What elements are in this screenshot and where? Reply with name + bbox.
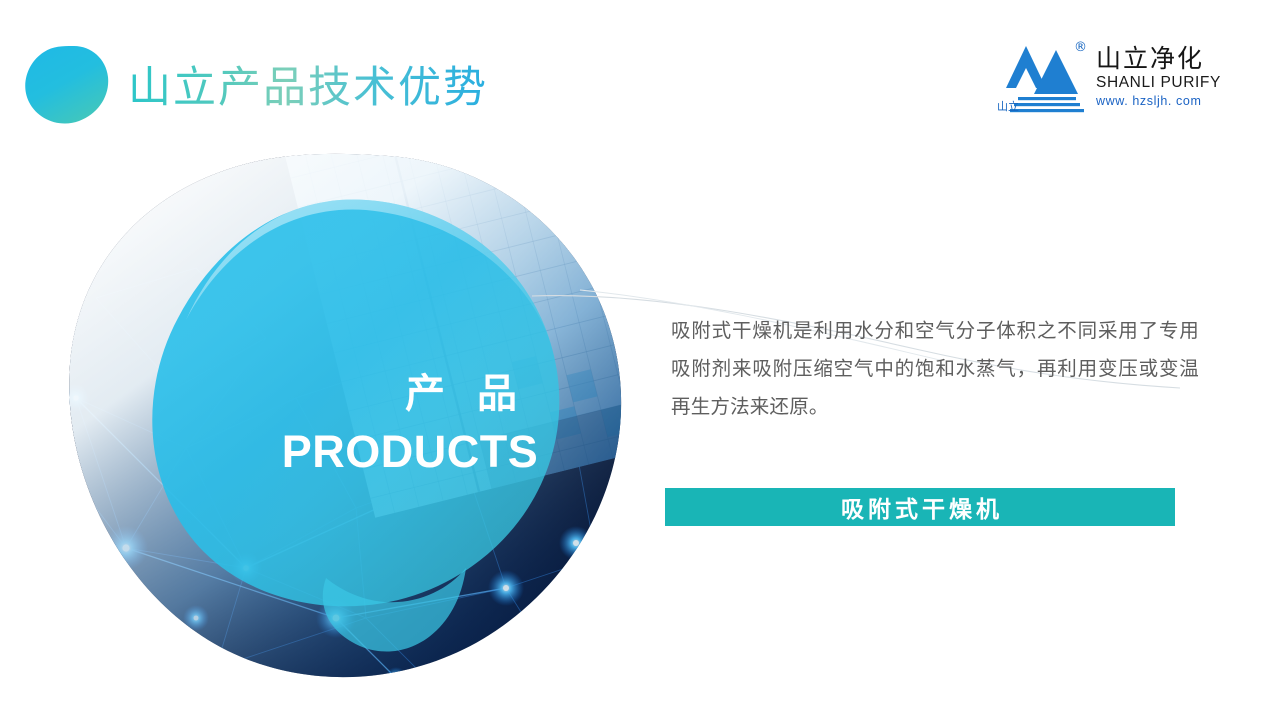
logo-website[interactable]: www. hzsljh. com (1096, 93, 1220, 109)
products-blob-graphic: 产 品 PRODUCTS (36, 148, 656, 693)
page-title: 山立产品技术优势 (128, 60, 488, 116)
slide-root: 山立产品技术优势 (0, 0, 1280, 720)
slide-header: 山立产品技术优势 (0, 0, 1280, 140)
registered-trademark-icon: ® (1074, 40, 1087, 55)
logo-company-en: SHANLI PURIFY (1096, 74, 1220, 92)
logo-company-cn: 山立净化 (1096, 44, 1220, 74)
product-name-banner-label: 吸附式干燥机 (837, 490, 1003, 524)
logo-badge-label: 山立 (997, 100, 1019, 113)
product-name-banner[interactable]: 吸附式干燥机 (665, 488, 1175, 526)
company-logo[interactable]: ® 山立 山立净化 SHANLI PURIFY www. hzsljh. com (996, 38, 1218, 120)
blob-icon (24, 44, 110, 124)
logo-text-block: 山立净化 SHANLI PURIFY www. hzsljh. com (1096, 44, 1220, 109)
product-description: 吸附式干燥机是利用水分和空气分子体积之不同采用了专用吸附剂来吸附压缩空气中的饱和… (671, 312, 1199, 426)
